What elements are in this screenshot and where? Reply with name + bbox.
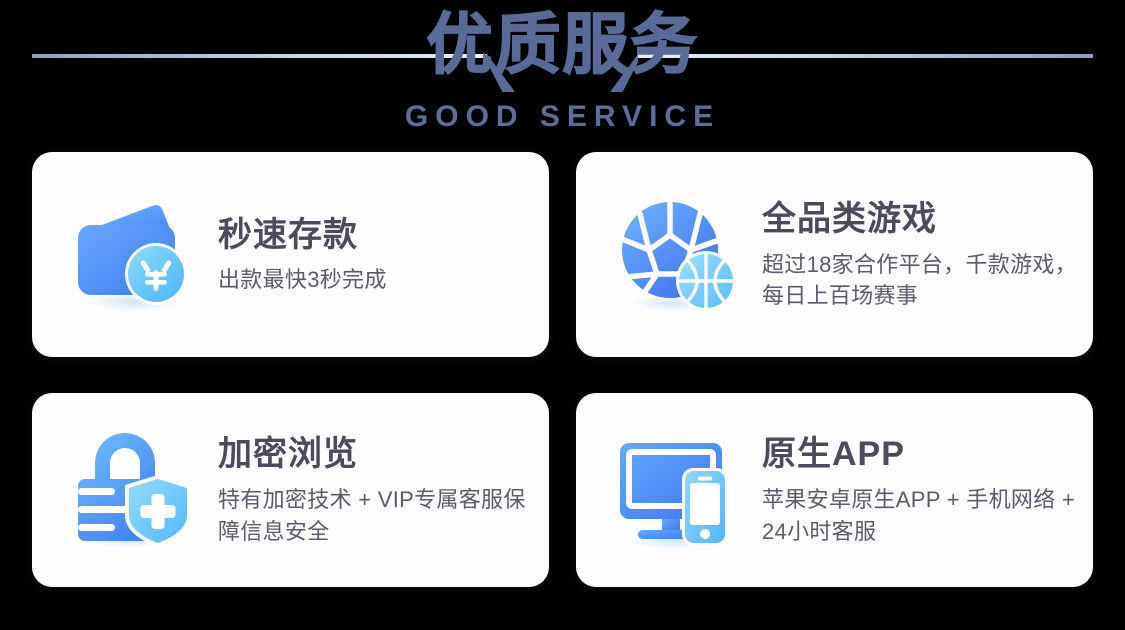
feature-card-text: 加密浏览 特有加密技术 + VIP专属客服保障信息安全 <box>218 432 528 548</box>
feature-card-text: 全品类游戏 超过18家合作平台，千款游戏，每日上百场赛事 <box>762 197 1080 313</box>
feature-card-text: 原生APP 苹果安卓原生APP + 手机网络 + 24小时客服 <box>762 432 1080 548</box>
card-subtitle: 特有加密技术 + VIP专属客服保障信息安全 <box>218 484 528 548</box>
feature-card-games[interactable]: 全品类游戏 超过18家合作平台，千款游戏，每日上百场赛事 <box>576 152 1093 357</box>
promo-banner: 优质服务 GOOD SERVICE <box>0 0 1125 630</box>
lock-shield-icon <box>70 427 196 553</box>
card-title: 全品类游戏 <box>762 199 1080 240</box>
card-title: 秒速存款 <box>218 215 387 256</box>
wallet-yen-icon <box>70 192 196 318</box>
feature-card-text: 秒速存款 出款最快3秒完成 <box>218 213 387 297</box>
feature-card-encryption[interactable]: 加密浏览 特有加密技术 + VIP专属客服保障信息安全 <box>32 393 549 587</box>
page-subtitle: GOOD SERVICE <box>0 100 1125 134</box>
monitor-phone-icon <box>614 427 740 553</box>
soccer-basketball-icon <box>614 192 740 318</box>
feature-card-grid: 秒速存款 出款最快3秒完成 <box>32 152 1093 587</box>
banner-header: 优质服务 GOOD SERVICE <box>0 0 1125 148</box>
page-title: 优质服务 <box>0 8 1125 82</box>
card-subtitle: 出款最快3秒完成 <box>218 264 387 296</box>
card-subtitle: 超过18家合作平台，千款游戏，每日上百场赛事 <box>762 249 1080 313</box>
card-subtitle: 苹果安卓原生APP + 手机网络 + 24小时客服 <box>762 484 1080 548</box>
card-title: 原生APP <box>762 434 1080 475</box>
feature-card-deposit[interactable]: 秒速存款 出款最快3秒完成 <box>32 152 549 357</box>
card-title: 加密浏览 <box>218 434 528 475</box>
feature-card-native-app[interactable]: 原生APP 苹果安卓原生APP + 手机网络 + 24小时客服 <box>576 393 1093 587</box>
